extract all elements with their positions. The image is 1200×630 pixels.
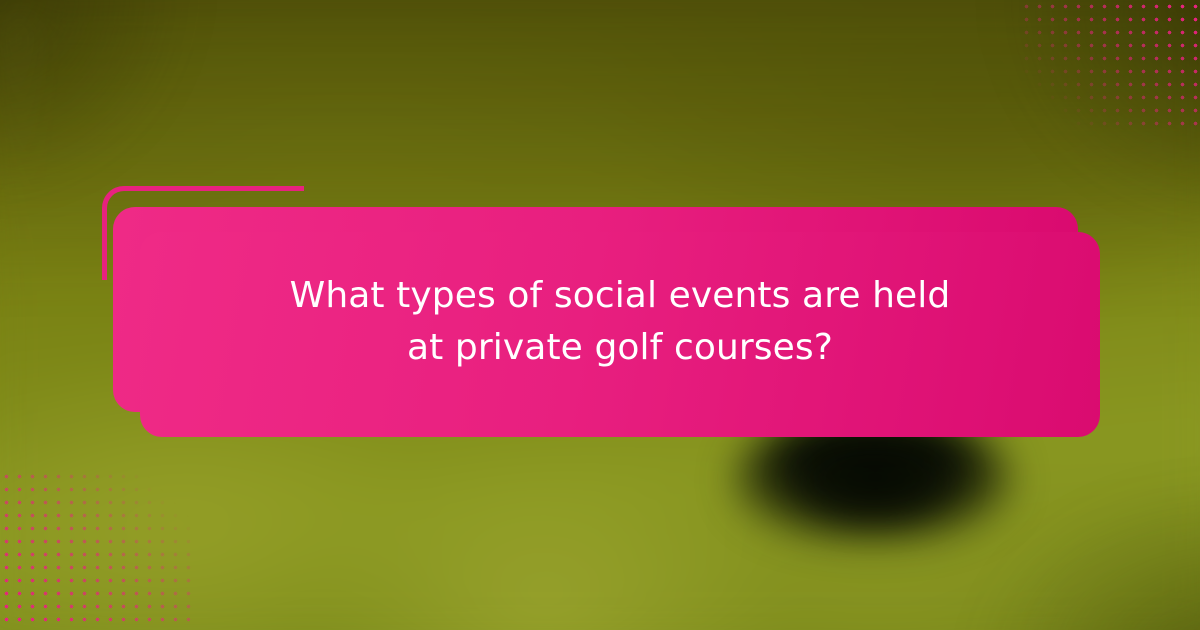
halftone-dots-bottom-left-icon [0, 470, 196, 630]
question-headline: What types of social events are held at … [270, 270, 970, 374]
background-dark-blob-core [795, 440, 955, 520]
halftone-dots-top-right-icon [1020, 0, 1200, 132]
question-headline-container: What types of social events are held at … [140, 207, 1100, 437]
social-card-canvas: What types of social events are held at … [0, 0, 1200, 630]
